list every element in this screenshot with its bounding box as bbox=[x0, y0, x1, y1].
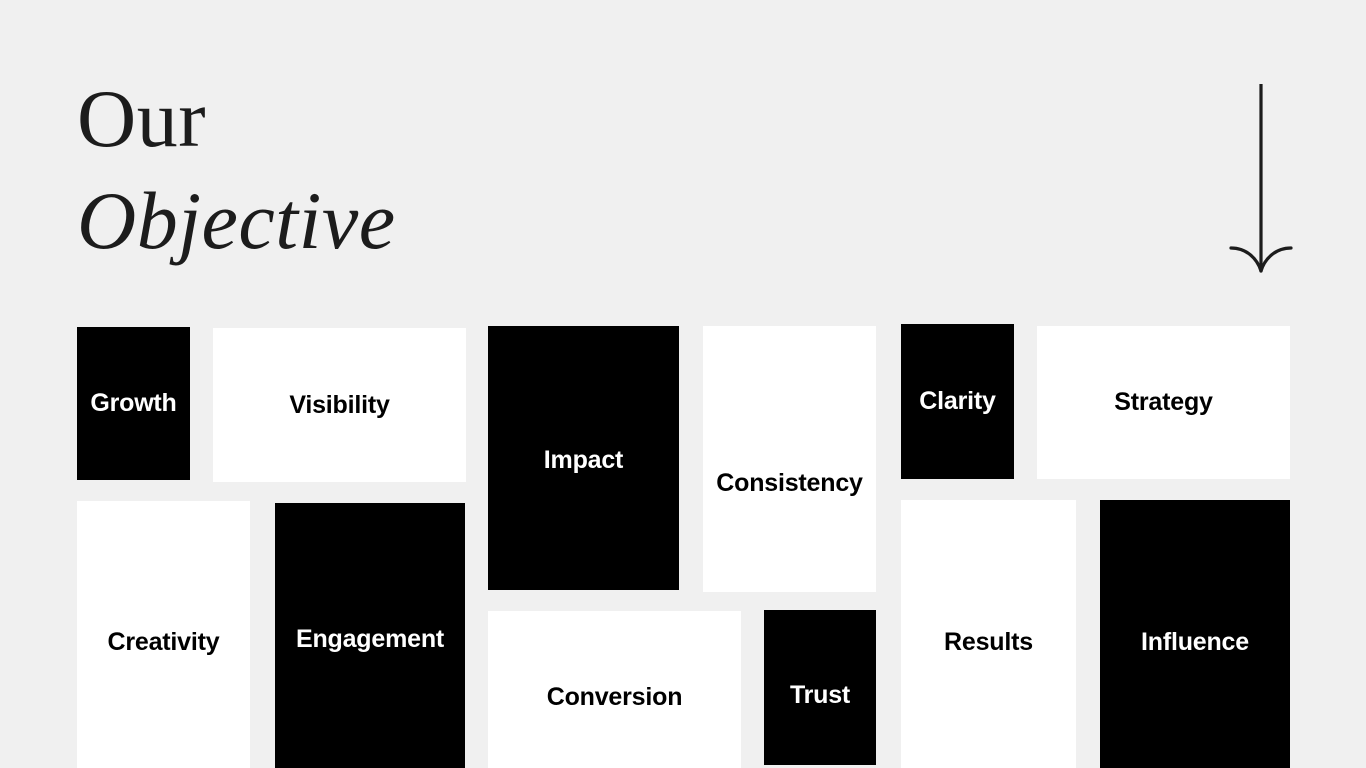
keyword-card-strategy[interactable]: Strategy bbox=[1037, 326, 1290, 479]
keyword-card-visibility[interactable]: Visibility bbox=[213, 328, 466, 482]
keyword-card-label: Influence bbox=[1141, 630, 1249, 655]
keyword-card-label: Conversion bbox=[547, 685, 683, 710]
page-title-line-2: Objective bbox=[77, 180, 396, 262]
keyword-card-label: Results bbox=[944, 630, 1033, 655]
keyword-card-label: Impact bbox=[544, 448, 623, 473]
keyword-card-results[interactable]: Results bbox=[901, 500, 1076, 768]
keyword-card-consistency[interactable]: Consistency bbox=[703, 326, 876, 592]
keyword-card-influence[interactable]: Influence bbox=[1100, 500, 1290, 768]
keyword-card-label: Engagement bbox=[296, 627, 444, 652]
slide-canvas: Our Objective GrowthVisibilityImpactCons… bbox=[0, 0, 1366, 768]
keyword-card-impact[interactable]: Impact bbox=[488, 326, 679, 590]
keyword-card-label: Strategy bbox=[1114, 390, 1212, 415]
keyword-card-creativity[interactable]: Creativity bbox=[77, 501, 250, 768]
keyword-card-label: Trust bbox=[790, 683, 850, 708]
keyword-card-trust[interactable]: Trust bbox=[764, 610, 876, 765]
keyword-card-label: Clarity bbox=[919, 389, 995, 414]
keyword-card-label: Visibility bbox=[289, 393, 389, 418]
page-title: Our Objective bbox=[77, 78, 396, 262]
keyword-card-engagement[interactable]: Engagement bbox=[275, 503, 465, 768]
down-arrow-icon bbox=[1228, 80, 1294, 276]
page-title-line-1: Our bbox=[77, 78, 396, 160]
keyword-card-clarity[interactable]: Clarity bbox=[901, 324, 1014, 479]
keyword-card-label: Growth bbox=[90, 391, 176, 416]
keyword-card-growth[interactable]: Growth bbox=[77, 327, 190, 480]
keyword-card-conversion[interactable]: Conversion bbox=[488, 611, 741, 768]
keyword-card-label: Consistency bbox=[716, 471, 862, 496]
keyword-card-label: Creativity bbox=[108, 630, 220, 655]
